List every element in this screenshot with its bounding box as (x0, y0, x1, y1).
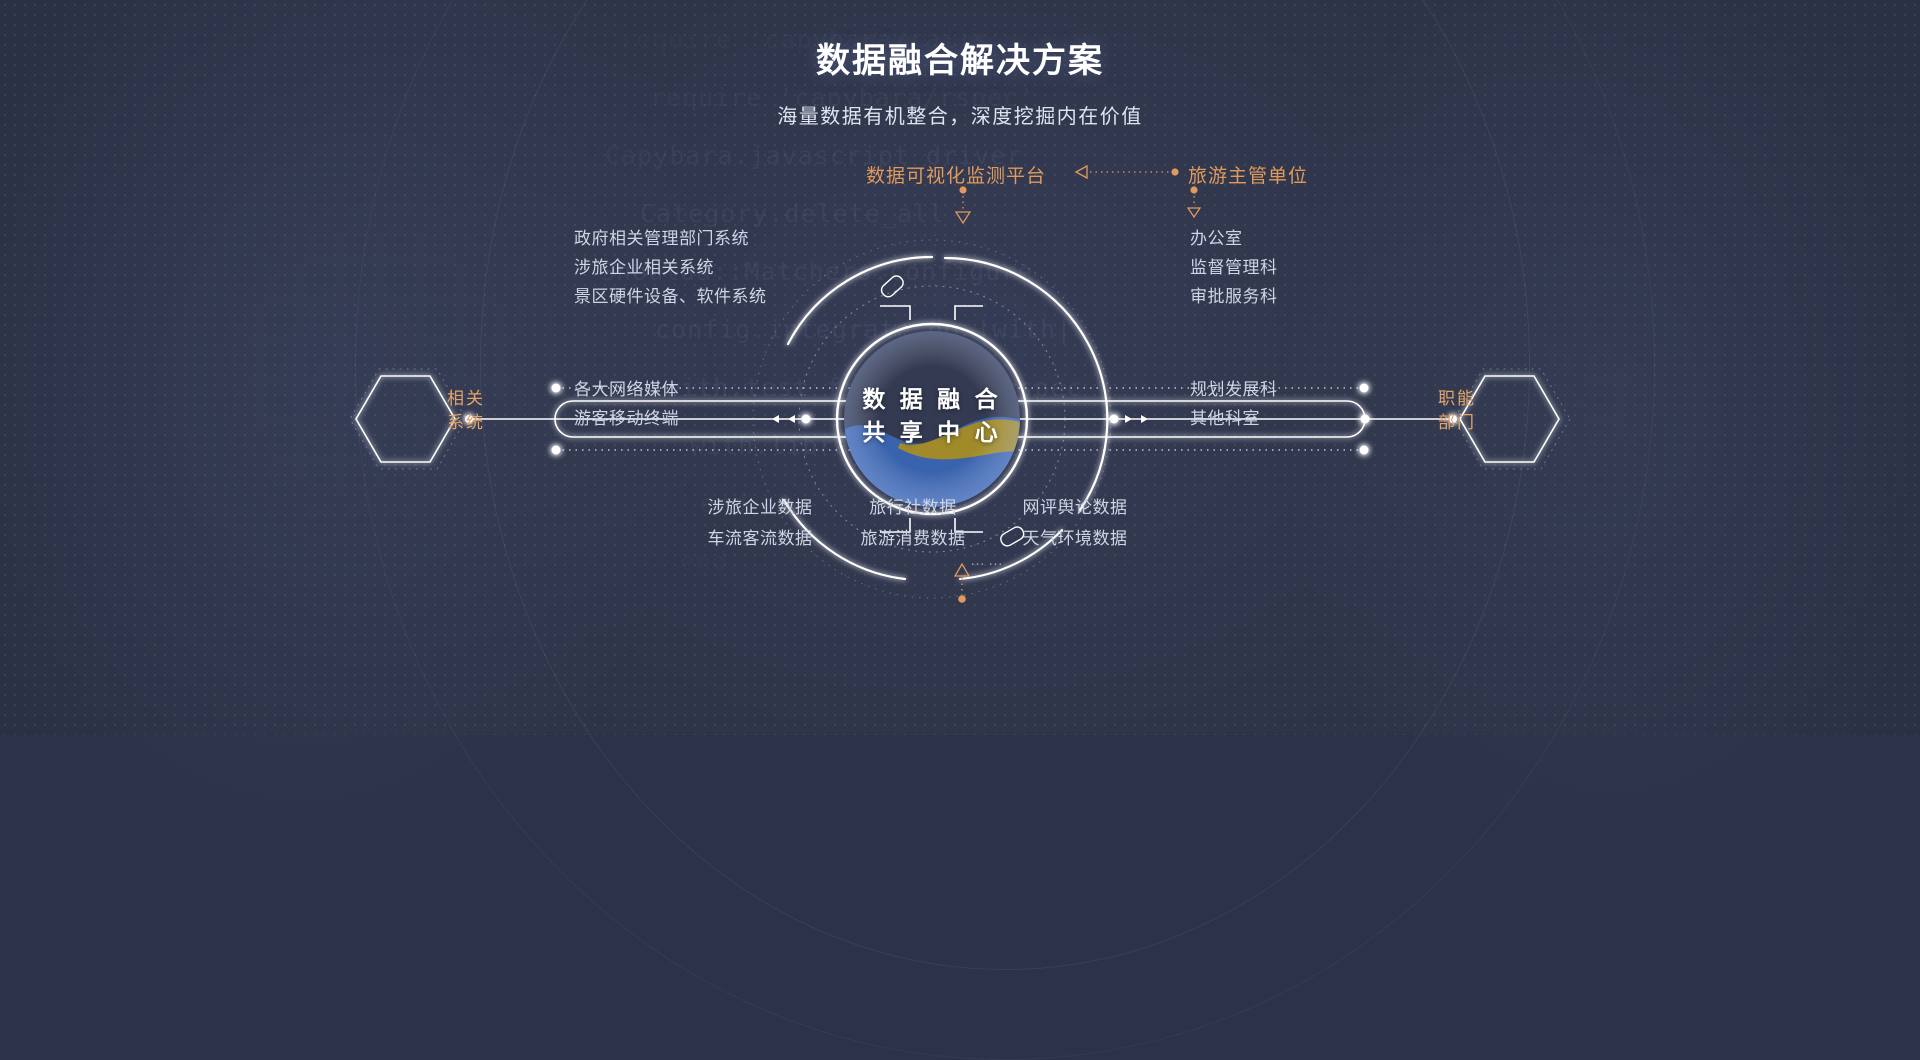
page-title: 数据融合解决方案 (0, 33, 1920, 82)
ring-arc-top-left (788, 257, 932, 344)
bracket-tick-top-right (955, 306, 983, 320)
left-rail-dot-bottom (552, 446, 561, 455)
left-source-item-1: 政府相关管理部门系统 (574, 224, 749, 249)
bottom-data-item-2: 旅行社数据 (838, 493, 988, 518)
page-subtitle: 海量数据有机整合，深度挖掘内在价值 (0, 100, 1920, 129)
header: 数据融合解决方案 海量数据有机整合，深度挖掘内在价值 (0, 33, 1920, 129)
bottom-data-item-6: 天气环境数据 (1000, 524, 1150, 549)
left-rail-dot-top (552, 384, 561, 393)
ring-node-top-left (879, 274, 906, 300)
right-department-item-5: 其他科室 (1190, 404, 1260, 429)
bracket-tick-top-left (880, 306, 910, 320)
hexagon-left-label-line2: 系统 (406, 411, 526, 435)
left-arrow-2 (788, 415, 795, 423)
hexagon-left-label-line1: 相关 (406, 387, 526, 411)
right-rail-dot-top (1360, 384, 1369, 393)
top-link-authority-label[interactable]: 旅游主管单位 (1188, 161, 1308, 188)
right-department-item-1: 办公室 (1190, 224, 1243, 249)
top-horizontal-origin-dot (1171, 168, 1178, 175)
left-source-item-2: 涉旅企业相关系统 (574, 253, 714, 278)
left-source-item-5: 游客移动终端 (574, 404, 679, 429)
top-horizontal-arrowhead (1076, 166, 1087, 178)
right-department-item-2: 监督管理科 (1190, 253, 1278, 278)
right-rail-dot-bottom (1360, 446, 1369, 455)
bottom-origin-dot (958, 595, 966, 603)
core-label-line1: 数 据 融 合 (832, 383, 1032, 416)
left-source-item-3: 景区硬件设备、软件系统 (574, 282, 767, 307)
right-department-item-3: 审批服务科 (1190, 282, 1278, 307)
left-source-item-4: 各大网络媒体 (574, 375, 679, 400)
bottom-data-item-3: 网评舆论数据 (1000, 493, 1150, 518)
right-arrow-2 (1125, 415, 1132, 423)
left-bus-endpoint (802, 415, 811, 424)
left-arrow-1 (772, 415, 779, 423)
top-link-platform-label[interactable]: 数据可视化监测平台 (866, 161, 1046, 188)
hexagon-right-label: 职能 部门 (1397, 387, 1517, 435)
right-bracket-endpoint (1361, 415, 1370, 424)
right-arrow-1 (1141, 415, 1148, 423)
hexagon-right-label-line2: 部门 (1397, 411, 1517, 435)
core-sphere-label: 数 据 融 合 共 享 中 心 (832, 383, 1032, 449)
bottom-dotted-connector (955, 564, 969, 603)
hexagon-right-label-line1: 职能 (1397, 387, 1517, 411)
bottom-data-item-4: 车流客流数据 (685, 524, 835, 549)
authority-arrowhead-down (1188, 208, 1200, 217)
core-label-line2: 共 享 中 心 (832, 416, 1032, 449)
bottom-data-item-1: 涉旅企业数据 (685, 493, 835, 518)
hexagon-left-label: 相关 系统 (406, 387, 526, 435)
bottom-data-item-5: 旅游消费数据 (838, 524, 988, 549)
bottom-data-ellipsis: …… (913, 552, 1063, 569)
right-department-item-4: 规划发展科 (1190, 375, 1278, 400)
platform-arrowhead-down (956, 212, 970, 223)
